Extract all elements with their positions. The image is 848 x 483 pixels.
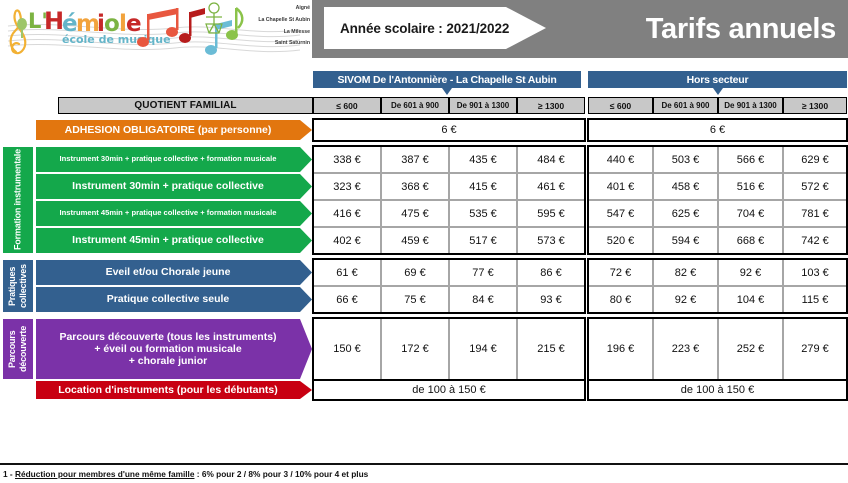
footnote-rest: : 6% pour 2 / 8% pour 3 / 10% pour 4 et … [194,469,368,479]
value-hors-formation-instrumentale-row-1-c0: 401 € [588,173,653,200]
row-label: ADHESION OBLIGATOIRE (par personne) [63,124,286,136]
value-sivom-merged-location-instruments-row-0: de 100 à 150 € [313,380,585,400]
value-hors-formation-instrumentale-row-1-c1: 458 € [653,173,718,200]
value-hors-merged-location-instruments-row-0: de 100 à 150 € [588,380,847,400]
bracket-sivom-3: ≥ 1300 [517,97,585,114]
value-sivom-pratiques-collectives-row-0-c1: 69 € [381,259,449,286]
page-header: L' H é m i o l e école de musique [0,0,848,58]
value-hors-formation-instrumentale-row-1-c3: 572 € [783,173,847,200]
value-hors-formation-instrumentale-row-2-c3: 781 € [783,200,847,227]
town-item-2: La Milesse [248,27,310,39]
value-hors-parcours-decouverte-row-0-c2: 252 € [718,318,783,380]
row-label: Parcours découverte (tous les instrument… [57,331,290,367]
value-sivom-formation-instrumentale-row-0-c0: 338 € [313,146,381,173]
value-sivom-formation-instrumentale-row-1-c2: 415 € [449,173,517,200]
value-hors-pratiques-collectives-row-0-c1: 82 € [653,259,718,286]
school-year-banner: Année scolaire : 2021/2022 [324,7,546,49]
value-hors-formation-instrumentale-row-0-c1: 503 € [653,146,718,173]
value-hors-formation-instrumentale-row-2-c1: 625 € [653,200,718,227]
bracket-sivom-2: De 901 à 1300 [449,97,517,114]
value-sivom-formation-instrumentale-row-3-c2: 517 € [449,227,517,254]
group-header-sivom: SIVOM De l'Antonnière - La Chapelle St A… [313,71,581,88]
logo-area: L' H é m i o l e école de musique [0,0,312,58]
value-sivom-formation-instrumentale-row-0-c2: 435 € [449,146,517,173]
value-sivom-formation-instrumentale-row-3-c0: 402 € [313,227,381,254]
value-sivom-pratiques-collectives-row-0-c0: 61 € [313,259,381,286]
value-hors-parcours-decouverte-row-0-c3: 279 € [783,318,847,380]
value-hors-formation-instrumentale-row-1-c2: 516 € [718,173,783,200]
label-chevron-location-instruments-row-0: Location d'instruments (pour les débutan… [36,381,312,399]
pricing-table: SIVOM De l'Antonnière - La Chapelle St A… [0,58,848,429]
bracket-hors-3: ≥ 1300 [783,97,847,114]
value-sivom-parcours-decouverte-row-0-c1: 172 € [381,318,449,380]
row-label: Pratique collective seule [105,293,244,305]
value-sivom-formation-instrumentale-row-1-c1: 368 € [381,173,449,200]
label-chevron-pratiques-collectives-row-1: Pratique collective seule [36,287,312,312]
value-sivom-formation-instrumentale-row-1-c0: 323 € [313,173,381,200]
value-hors-formation-instrumentale-row-0-c0: 440 € [588,146,653,173]
bottom-divider [0,463,848,465]
footnote: 1 - Réduction pour membres d'une même fa… [3,469,603,483]
treble-clef-icon [11,10,26,53]
quotient-familial-header: QUOTIENT FAMILIAL [58,97,313,114]
value-hors-formation-instrumentale-row-0-c3: 629 € [783,146,847,173]
value-sivom-pratiques-collectives-row-0-c3: 86 € [517,259,585,286]
section-tab-formation-instrumentale: Formation instrumentale [3,147,33,253]
bracket-sivom-1: De 601 à 900 [381,97,449,114]
value-sivom-parcours-decouverte-row-0-c0: 150 € [313,318,381,380]
label-chevron-formation-instrumentale-row-0: Instrument 30min + pratique collective +… [36,147,312,172]
footnote-index: 1 - [3,469,15,479]
value-hors-formation-instrumentale-row-2-c0: 547 € [588,200,653,227]
svg-text:école de musique: école de musique [62,33,171,46]
value-hors-pratiques-collectives-row-0-c0: 72 € [588,259,653,286]
value-sivom-formation-instrumentale-row-0-c1: 387 € [381,146,449,173]
row-label: Eveil et/ou Chorale jeune [104,266,245,278]
value-hors-formation-instrumentale-row-2-c2: 704 € [718,200,783,227]
town-item-0: Aigné [248,3,310,15]
school-year-text: Année scolaire : 2021/2022 [340,21,509,36]
value-hors-formation-instrumentale-row-3-c2: 668 € [718,227,783,254]
value-sivom-formation-instrumentale-row-3-c1: 459 € [381,227,449,254]
row-label: Instrument 45min + pratique collective +… [58,209,291,218]
value-sivom-formation-instrumentale-row-2-c1: 475 € [381,200,449,227]
value-sivom-formation-instrumentale-row-1-c3: 461 € [517,173,585,200]
label-chevron-formation-instrumentale-row-2: Instrument 45min + pratique collective +… [36,201,312,226]
value-sivom-pratiques-collectives-row-1-c2: 84 € [449,286,517,313]
value-sivom-formation-instrumentale-row-2-c0: 416 € [313,200,381,227]
bracket-hors-0: ≤ 600 [588,97,653,114]
value-hors-formation-instrumentale-row-3-c3: 742 € [783,227,847,254]
value-hors-pratiques-collectives-row-1-c0: 80 € [588,286,653,313]
value-hors-formation-instrumentale-row-3-c1: 594 € [653,227,718,254]
value-sivom-parcours-decouverte-row-0-c3: 215 € [517,318,585,380]
value-sivom-parcours-decouverte-row-0-c2: 194 € [449,318,517,380]
value-sivom-pratiques-collectives-row-1-c0: 66 € [313,286,381,313]
label-chevron-formation-instrumentale-row-3: Instrument 45min + pratique collective [36,228,312,253]
value-hors-merged-adhesion-row-0: 6 € [588,119,847,141]
group-arrow-sivom-icon [442,88,452,95]
bracket-hors-2: De 901 à 1300 [718,97,783,114]
label-chevron-adhesion-row-0: ADHESION OBLIGATOIRE (par personne) [36,120,312,140]
value-hors-parcours-decouverte-row-0-c0: 196 € [588,318,653,380]
value-hors-pratiques-collectives-row-0-c2: 92 € [718,259,783,286]
value-sivom-pratiques-collectives-row-0-c2: 77 € [449,259,517,286]
value-hors-pratiques-collectives-row-1-c3: 115 € [783,286,847,313]
value-hors-parcours-decouverte-row-0-c1: 223 € [653,318,718,380]
page-title: Tarifs annuels [560,6,844,52]
label-chevron-pratiques-collectives-row-0: Eveil et/ou Chorale jeune [36,260,312,285]
value-sivom-merged-adhesion-row-0: 6 € [313,119,585,141]
section-tab-parcours-decouverte: Parcours découverte [3,319,33,379]
footnote-underlined: Réduction pour membres d'une même famill… [15,469,194,479]
group-header-hors-secteur: Hors secteur [588,71,847,88]
value-sivom-formation-instrumentale-row-2-c3: 595 € [517,200,585,227]
label-chevron-formation-instrumentale-row-1: Instrument 30min + pratique collective [36,174,312,199]
label-chevron-parcours-decouverte-row-0: Parcours découverte (tous les instrument… [36,319,312,379]
town-list: Aigné La Chapelle St Aubin La Milesse Sa… [248,3,310,55]
value-sivom-formation-instrumentale-row-2-c2: 535 € [449,200,517,227]
value-hors-pratiques-collectives-row-1-c1: 92 € [653,286,718,313]
row-label: Instrument 30min + pratique collective [70,180,278,192]
value-hors-pratiques-collectives-row-1-c2: 104 € [718,286,783,313]
row-label: Instrument 30min + pratique collective +… [58,155,291,164]
value-sivom-formation-instrumentale-row-0-c3: 484 € [517,146,585,173]
value-hors-formation-instrumentale-row-3-c0: 520 € [588,227,653,254]
town-item-1: La Chapelle St Aubin [248,15,310,27]
value-sivom-pratiques-collectives-row-1-c1: 75 € [381,286,449,313]
value-hors-formation-instrumentale-row-0-c2: 566 € [718,146,783,173]
bracket-hors-1: De 601 à 900 [653,97,718,114]
value-hors-pratiques-collectives-row-0-c3: 103 € [783,259,847,286]
section-tab-pratiques-collectives: Pratiques collectives [3,260,33,312]
value-sivom-formation-instrumentale-row-3-c3: 573 € [517,227,585,254]
row-label: Location d'instruments (pour les débutan… [56,384,292,396]
value-sivom-pratiques-collectives-row-1-c3: 93 € [517,286,585,313]
town-item-3: Saint Saturnin [248,38,310,50]
row-label: Instrument 45min + pratique collective [70,234,278,246]
bracket-sivom-0: ≤ 600 [313,97,381,114]
group-arrow-hors-secteur-icon [713,88,723,95]
